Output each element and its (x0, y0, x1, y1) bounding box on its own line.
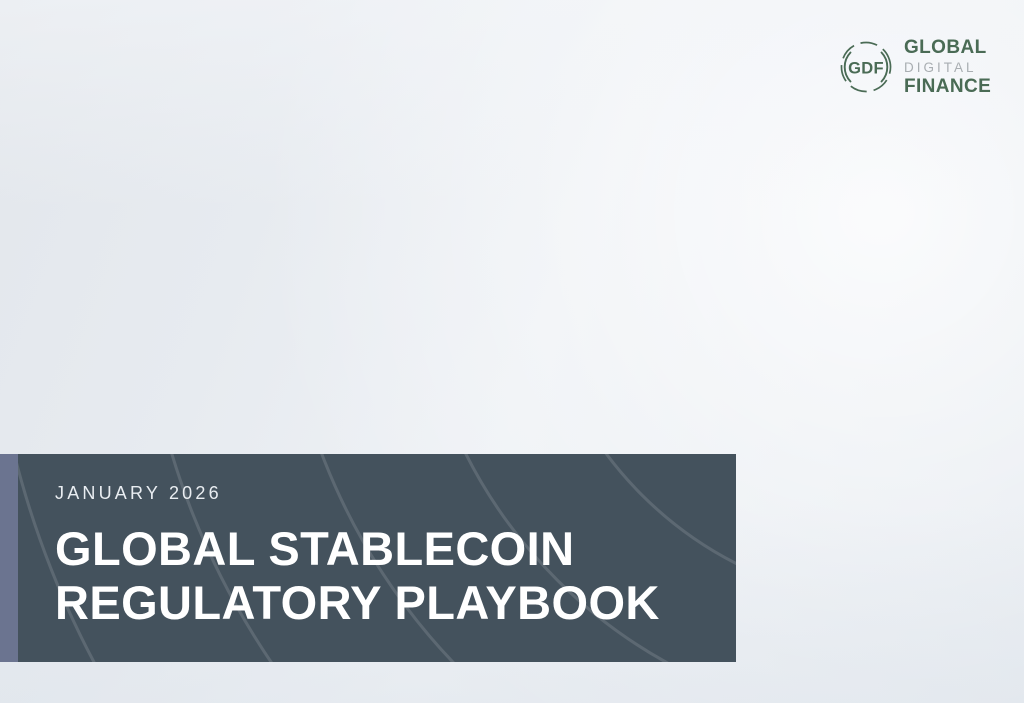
gdf-logo: GDF GLOBAL DIGITAL FINANCE (838, 36, 998, 98)
title-block: JANUARY 2026 GLOBAL STABLECOIN REGULATOR… (55, 484, 716, 630)
page-title-line-2: REGULATORY PLAYBOOK (55, 576, 716, 630)
title-banner: JANUARY 2026 GLOBAL STABLECOIN REGULATOR… (0, 454, 736, 662)
gdf-logo-wordmark: GLOBAL DIGITAL FINANCE (904, 37, 991, 97)
banner-accent-edge (0, 454, 18, 662)
gdf-monogram-text: GDF (848, 59, 884, 77)
logo-word-digital: DIGITAL (904, 58, 991, 77)
logo-word-finance: FINANCE (904, 77, 991, 97)
gdf-monogram-icon: GDF (838, 39, 894, 95)
report-cover-page: GDF GLOBAL DIGITAL FINANCE JANUARY 2026 … (0, 0, 1024, 703)
publication-date: JANUARY 2026 (55, 484, 716, 502)
page-title: GLOBAL STABLECOIN REGULATORY PLAYBOOK (55, 522, 716, 630)
logo-word-global: GLOBAL (904, 38, 991, 58)
page-title-line-1: GLOBAL STABLECOIN (55, 522, 716, 576)
